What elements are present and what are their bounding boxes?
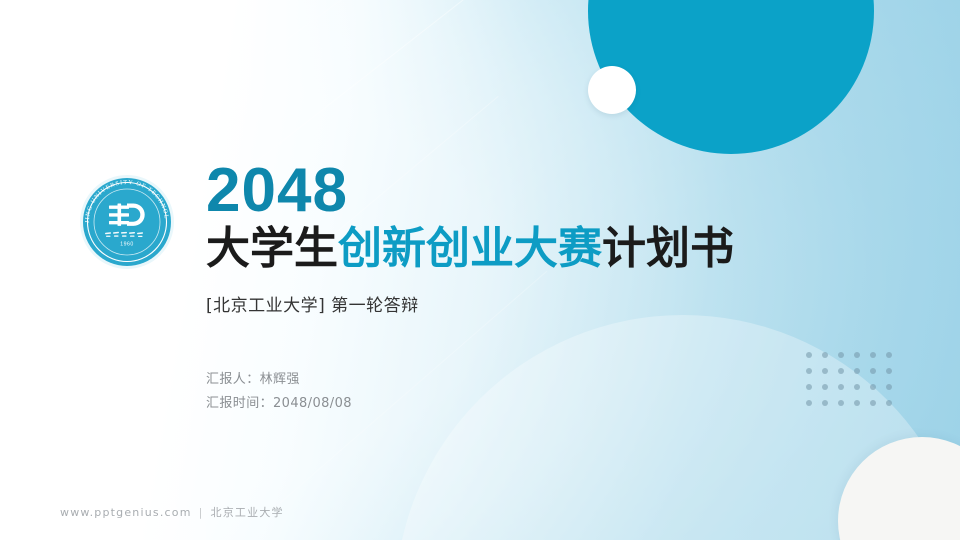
grid-dot xyxy=(822,368,828,374)
grid-dot xyxy=(806,384,812,390)
svg-text:1960: 1960 xyxy=(120,242,134,248)
headline-part-1: 大学生 xyxy=(206,223,338,274)
grid-dot xyxy=(838,352,844,358)
grid-dot xyxy=(838,384,844,390)
presenter-meta: 汇报人：林辉强 汇报时间：2048/08/08 xyxy=(206,368,352,416)
grid-dot xyxy=(886,400,892,406)
grid-dot xyxy=(854,384,860,390)
university-seal-icon: BEIJING UNIVERSITY OF TECHNOLOGY xyxy=(77,172,177,272)
grid-dot xyxy=(822,384,828,390)
main-headline: 大学生创新创业大赛计划书 xyxy=(206,224,866,273)
title-slide: BEIJING UNIVERSITY OF TECHNOLOGY xyxy=(0,0,960,540)
grid-dot xyxy=(870,384,876,390)
grid-dot xyxy=(822,352,828,358)
year-heading: 2048 xyxy=(206,160,866,222)
presenter-name: 汇报人：林辉强 xyxy=(206,368,352,392)
grid-dot xyxy=(806,352,812,358)
footer-organization: 北京工业大学 xyxy=(211,504,284,520)
grid-dot xyxy=(838,400,844,406)
grid-dot xyxy=(870,368,876,374)
footer-website[interactable]: www.pptgenius.com xyxy=(60,506,192,519)
headline-part-3: 计划书 xyxy=(602,223,734,274)
grid-dot xyxy=(838,368,844,374)
grid-dot xyxy=(870,352,876,358)
grid-dot xyxy=(854,400,860,406)
grid-dot xyxy=(822,400,828,406)
subtitle: [北京工业大学] 第一轮答辩 xyxy=(206,291,866,316)
grid-dot xyxy=(886,368,892,374)
grid-dot xyxy=(886,352,892,358)
presentation-date: 汇报时间：2048/08/08 xyxy=(206,392,352,416)
grid-dot xyxy=(854,368,860,374)
university-logo: BEIJING UNIVERSITY OF TECHNOLOGY xyxy=(71,166,183,278)
grid-dot xyxy=(806,400,812,406)
decorative-white-dot-circle xyxy=(588,66,636,114)
grid-dot xyxy=(886,384,892,390)
footer-separator: | xyxy=(199,506,204,519)
title-text-block: 2048 大学生创新创业大赛计划书 [北京工业大学] 第一轮答辩 xyxy=(206,160,866,316)
headline-part-2: 创新创业大赛 xyxy=(338,223,602,274)
footer: www.pptgenius.com | 北京工业大学 xyxy=(60,504,284,520)
grid-dot xyxy=(806,368,812,374)
grid-dot xyxy=(870,400,876,406)
grid-dot xyxy=(854,352,860,358)
decorative-dot-grid xyxy=(806,352,902,416)
